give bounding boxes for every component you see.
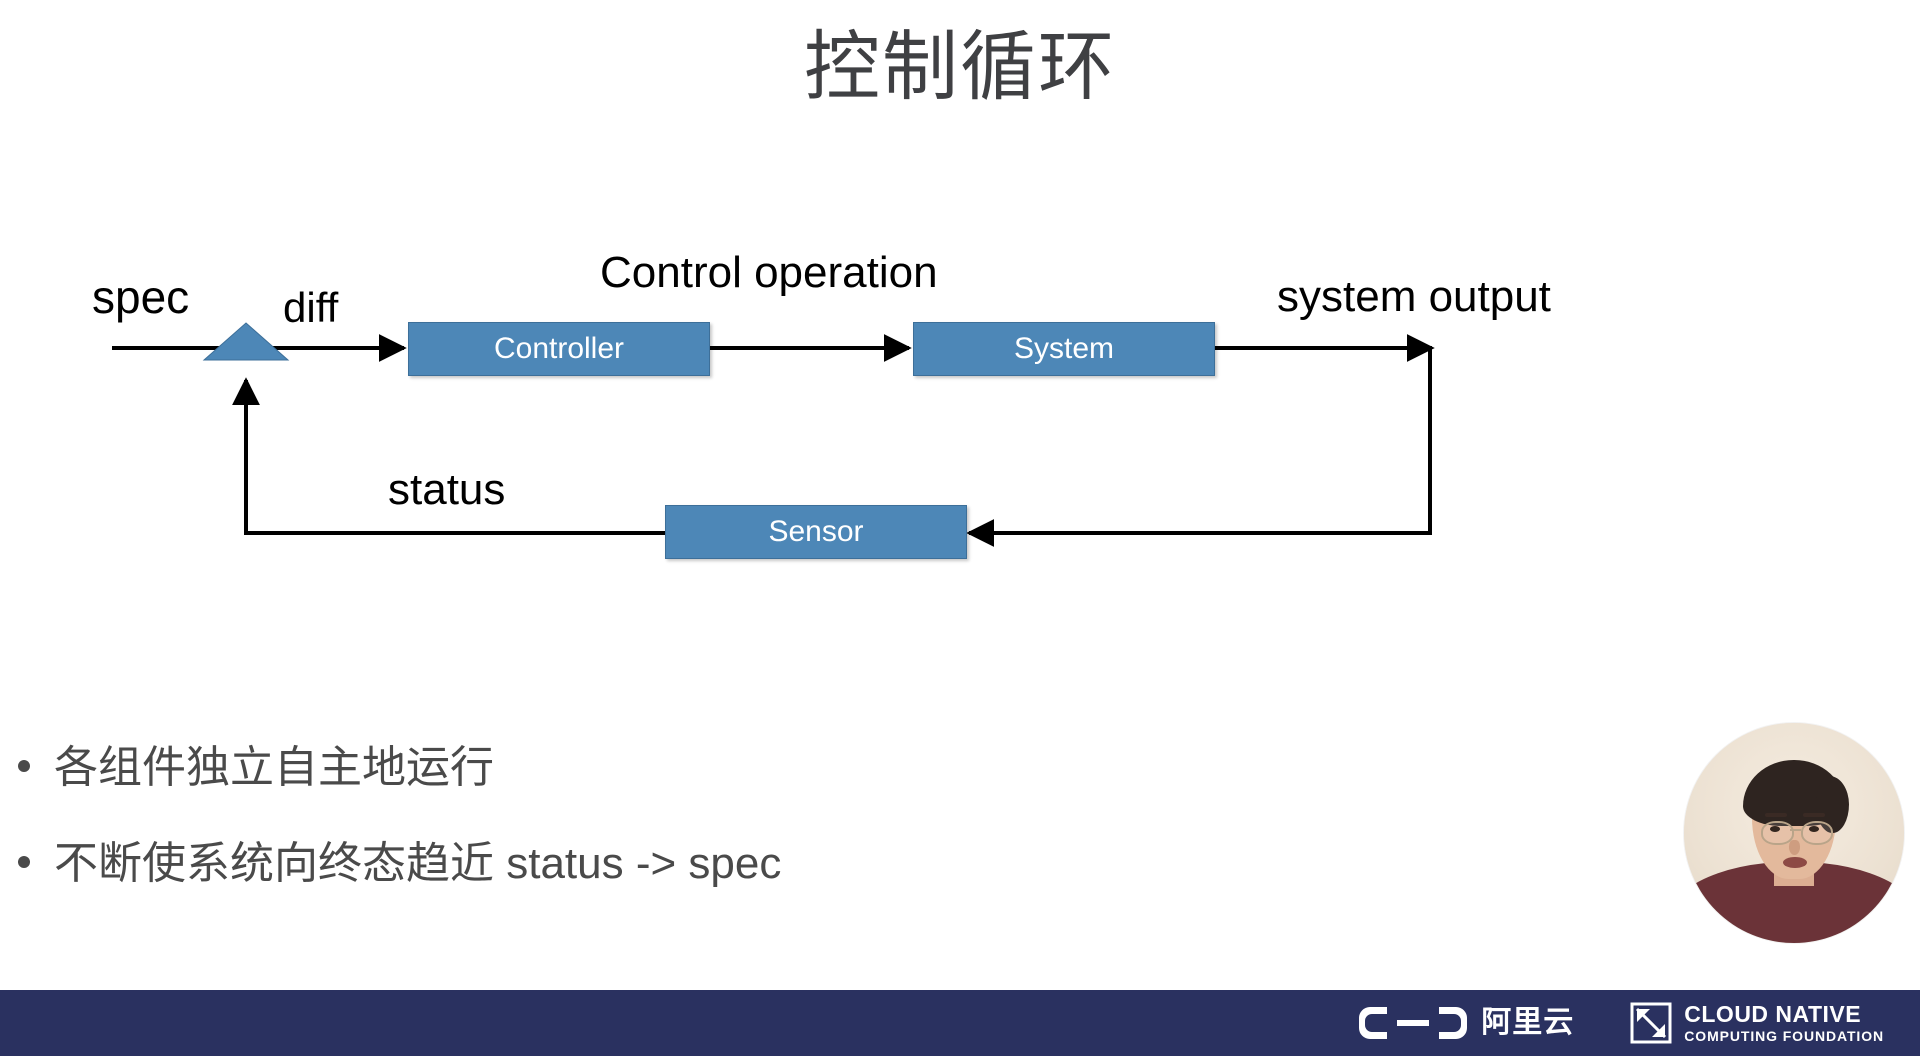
summation-triangle [204, 323, 288, 360]
slide-title: 控制循环 [0, 8, 1920, 128]
aliyun-logo: 阿里云 [1357, 1003, 1574, 1043]
cncf-line-2: COMPUTING FOUNDATION [1684, 1029, 1884, 1043]
cncf-line-1: CLOUD NATIVE [1684, 1003, 1884, 1026]
label-diff: diff [283, 284, 338, 332]
label-status: status [388, 465, 505, 515]
bullet-dot-icon [18, 760, 30, 772]
webcam-eyebrow-left [1765, 813, 1787, 817]
glasses-bridge-icon [1790, 829, 1801, 831]
node-sensor: Sensor [665, 505, 967, 559]
list-item: 各组件独立自主地运行 [0, 740, 1200, 796]
label-spec: spec [92, 270, 189, 324]
webcam-eyebrow-right [1803, 813, 1825, 817]
aliyun-wordmark: 阿里云 [1481, 1007, 1574, 1039]
webcam-nose [1789, 840, 1800, 855]
footer-bar: 阿里云 CLOUD NATIVE COMPUTING FOUNDATION [0, 990, 1920, 1056]
slide-canvas: 控制循环 Controller System Sensor [0, 0, 1920, 1056]
list-item: 不断使系统向终态趋近 status -> spec [0, 836, 1200, 892]
presenter-video-bubble [1684, 723, 1904, 943]
bullet-text: 不断使系统向终态趋近 status -> spec [54, 836, 781, 892]
bullet-list: 各组件独立自主地运行 不断使系统向终态趋近 status -> spec [0, 740, 1200, 932]
cncf-logo: CLOUD NATIVE COMPUTING FOUNDATION [1630, 1002, 1884, 1044]
label-system-output: system output [1277, 272, 1551, 322]
alibaba-cloud-mark-icon [1357, 1003, 1469, 1043]
node-system: System [913, 322, 1215, 376]
bullet-dot-icon [18, 856, 30, 868]
glasses-lens-left-icon [1761, 821, 1794, 845]
node-controller: Controller [408, 322, 710, 376]
cncf-wordmark: CLOUD NATIVE COMPUTING FOUNDATION [1684, 1003, 1884, 1043]
node-sensor-label: Sensor [768, 515, 863, 548]
footer-logos: 阿里云 CLOUD NATIVE COMPUTING FOUNDATION [1357, 990, 1884, 1056]
webcam-eye-left [1770, 826, 1780, 832]
node-system-label: System [1014, 332, 1114, 365]
bullet-text: 各组件独立自主地运行 [54, 740, 494, 796]
label-control-operation: Control operation [600, 248, 938, 298]
node-controller-label: Controller [494, 332, 624, 365]
cncf-mark-icon [1630, 1002, 1672, 1044]
glasses-lens-right-icon [1801, 821, 1834, 845]
